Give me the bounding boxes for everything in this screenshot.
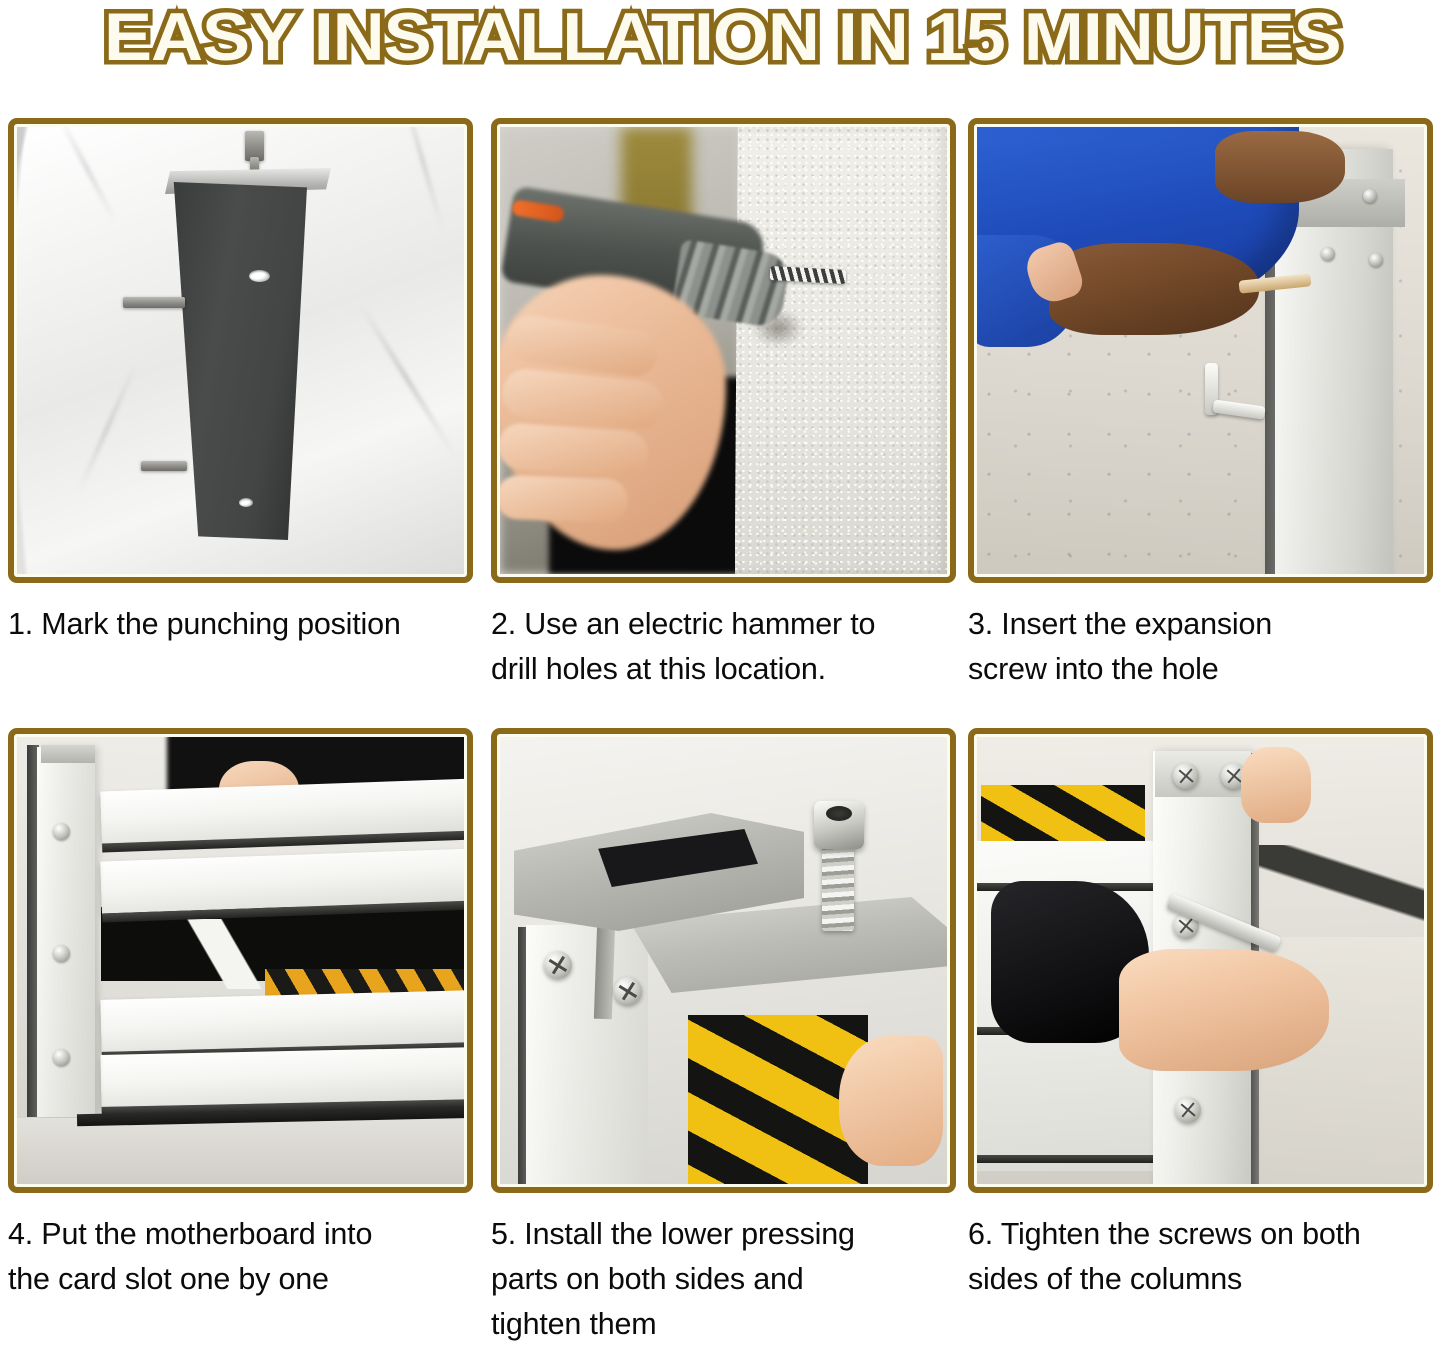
bracket-screw bbox=[544, 951, 572, 979]
wall-skirting-shadow bbox=[1259, 845, 1424, 975]
barrier-board bbox=[100, 990, 464, 1052]
hazard-stripe-tape bbox=[981, 785, 1145, 849]
step-1-mark-punching-position-photo bbox=[17, 127, 464, 574]
step-3-photo-frame bbox=[968, 118, 1433, 583]
column-slot-screw bbox=[53, 823, 70, 840]
barrier-board bbox=[100, 1047, 464, 1107]
column-slot-screw bbox=[53, 1049, 70, 1066]
column-screw bbox=[1369, 253, 1383, 267]
title-banner: EASY INSTALLATION IN 15 MINUTESEASY INST… bbox=[0, 0, 1445, 118]
column-screw bbox=[1321, 247, 1335, 261]
step-5-photo-frame bbox=[491, 728, 956, 1193]
column-slot-screw bbox=[53, 945, 70, 962]
step-1-photo-frame bbox=[8, 118, 473, 583]
bolt-hole-upper bbox=[249, 270, 270, 282]
step-3-insert-expansion-screw-photo bbox=[977, 127, 1424, 574]
step-6-caption: 6. Tighten the screws on both sides of t… bbox=[968, 1212, 1440, 1302]
step-1-caption: 1. Mark the punching position bbox=[8, 602, 480, 647]
bolt-hole-lower bbox=[239, 498, 253, 507]
steps-row-2: 4. Put the motherboard into the card slo… bbox=[0, 728, 1445, 1352]
step-2-photo-frame bbox=[491, 118, 956, 583]
textured-wall-surface bbox=[735, 127, 947, 574]
step-card-3: 3. Insert the expansion screw into the h… bbox=[968, 118, 1440, 692]
step-card-2: 2. Use an electric hammer to drill holes… bbox=[491, 118, 963, 692]
hex-socket-bolt-head bbox=[814, 801, 864, 849]
installer-hand-secondary bbox=[1241, 747, 1311, 823]
step-2-drill-holes-photo bbox=[500, 127, 947, 574]
step-4-insert-boards-photo bbox=[17, 737, 464, 1184]
steps-row-1: 1. Mark the punching position bbox=[0, 118, 1445, 718]
step-card-6: 6. Tighten the screws on both sides of t… bbox=[968, 728, 1440, 1302]
bracket-screw bbox=[614, 977, 642, 1005]
installation-steps-grid: 1. Mark the punching position bbox=[0, 118, 1445, 1352]
step-card-5: 5. Install the lower pressing parts on b… bbox=[491, 728, 963, 1347]
installer-fingers bbox=[839, 1036, 943, 1166]
step-3-caption: 3. Insert the expansion screw into the h… bbox=[968, 602, 1440, 692]
step-4-photo-frame bbox=[8, 728, 473, 1193]
installer-hand-primary bbox=[1119, 949, 1329, 1071]
step-6-tighten-screws-photo bbox=[977, 737, 1424, 1184]
side-stud-upper bbox=[123, 297, 185, 308]
column-top-plate bbox=[41, 745, 95, 763]
worker-second-hand bbox=[1215, 131, 1345, 203]
panel-seam bbox=[977, 1155, 1153, 1163]
step-5-lower-pressing-parts-photo bbox=[500, 737, 947, 1184]
allen-key-short-arm bbox=[1212, 399, 1265, 419]
step-4-caption: 4. Put the motherboard into the card slo… bbox=[8, 1212, 480, 1302]
page-title: EASY INSTALLATION IN 15 MINUTESEASY INST… bbox=[104, 2, 1341, 72]
step-card-1: 1. Mark the punching position bbox=[8, 118, 480, 647]
finger bbox=[500, 475, 629, 524]
step-6-photo-frame bbox=[968, 728, 1433, 1193]
column-screw bbox=[1363, 189, 1377, 203]
step-card-4: 4. Put the motherboard into the card slo… bbox=[8, 728, 480, 1302]
allen-key-on-floor bbox=[1205, 363, 1269, 425]
hex-bolt-thread bbox=[822, 841, 854, 931]
step-2-caption: 2. Use an electric hammer to drill holes… bbox=[491, 602, 963, 692]
page-title-inner-face: EASY INSTALLATION IN 15 MINUTES bbox=[104, 2, 1341, 72]
column-screw bbox=[1175, 1097, 1201, 1123]
floor-surface bbox=[17, 1118, 464, 1184]
column-screw bbox=[1173, 763, 1199, 789]
side-stud-lower bbox=[141, 461, 187, 471]
step-5-caption: 5. Install the lower pressing parts on b… bbox=[491, 1212, 963, 1347]
